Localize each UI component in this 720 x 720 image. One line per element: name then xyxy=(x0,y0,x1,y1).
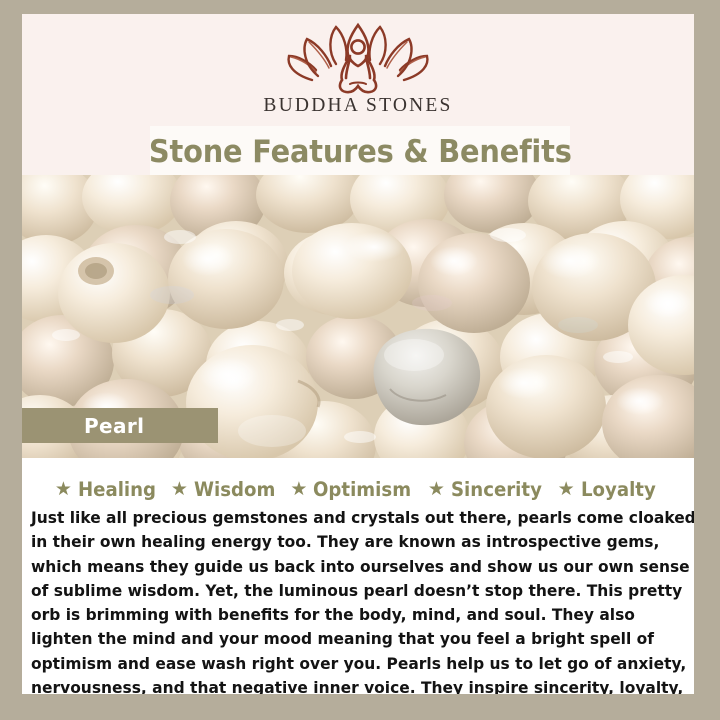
brand-header: BUDDHA STONES xyxy=(22,14,694,122)
stone-description: Just like all precious gemstones and cry… xyxy=(31,506,694,694)
benefit-label: Sincerity xyxy=(451,478,542,501)
star-icon: ★ xyxy=(55,480,72,499)
page-title: Stone Features & Benefits xyxy=(149,134,572,170)
benefit-item: ★ Loyalty xyxy=(558,478,661,501)
star-icon: ★ xyxy=(171,480,188,499)
star-icon: ★ xyxy=(558,480,575,499)
benefit-label: Loyalty xyxy=(581,478,656,501)
frame-band-top xyxy=(0,0,720,14)
star-icon: ★ xyxy=(428,480,445,499)
product-info-card: BUDDHA STONES Stone Features & Benefits xyxy=(0,0,720,720)
frame-band-bottom xyxy=(0,694,720,720)
description-panel: ★ Healing ★ Wisdom ★ Optimism ★ Sincerit… xyxy=(22,458,694,694)
brand-name: BUDDHA STONES xyxy=(263,95,452,117)
stone-name-chip: Pearl xyxy=(22,408,218,443)
benefit-item: ★ Optimism xyxy=(290,478,419,501)
card-body: BUDDHA STONES Stone Features & Benefits xyxy=(22,14,694,694)
benefit-item: ★ Wisdom xyxy=(171,478,282,501)
figure-head xyxy=(351,40,364,53)
frame-band-right xyxy=(694,0,720,720)
benefits-list: ★ Healing ★ Wisdom ★ Optimism ★ Sincerit… xyxy=(22,458,694,501)
benefit-label: Optimism xyxy=(313,478,411,501)
frame-band-left xyxy=(0,0,22,720)
stone-name: Pearl xyxy=(84,414,144,438)
benefit-label: Wisdom xyxy=(194,478,275,501)
star-icon: ★ xyxy=(290,480,307,499)
benefit-item: ★ Healing xyxy=(55,478,162,501)
title-banner: Stone Features & Benefits xyxy=(150,126,570,178)
benefit-item: ★ Sincerity xyxy=(428,478,549,501)
benefit-label: Healing xyxy=(78,478,156,501)
lotus-meditation-icon xyxy=(282,22,434,94)
